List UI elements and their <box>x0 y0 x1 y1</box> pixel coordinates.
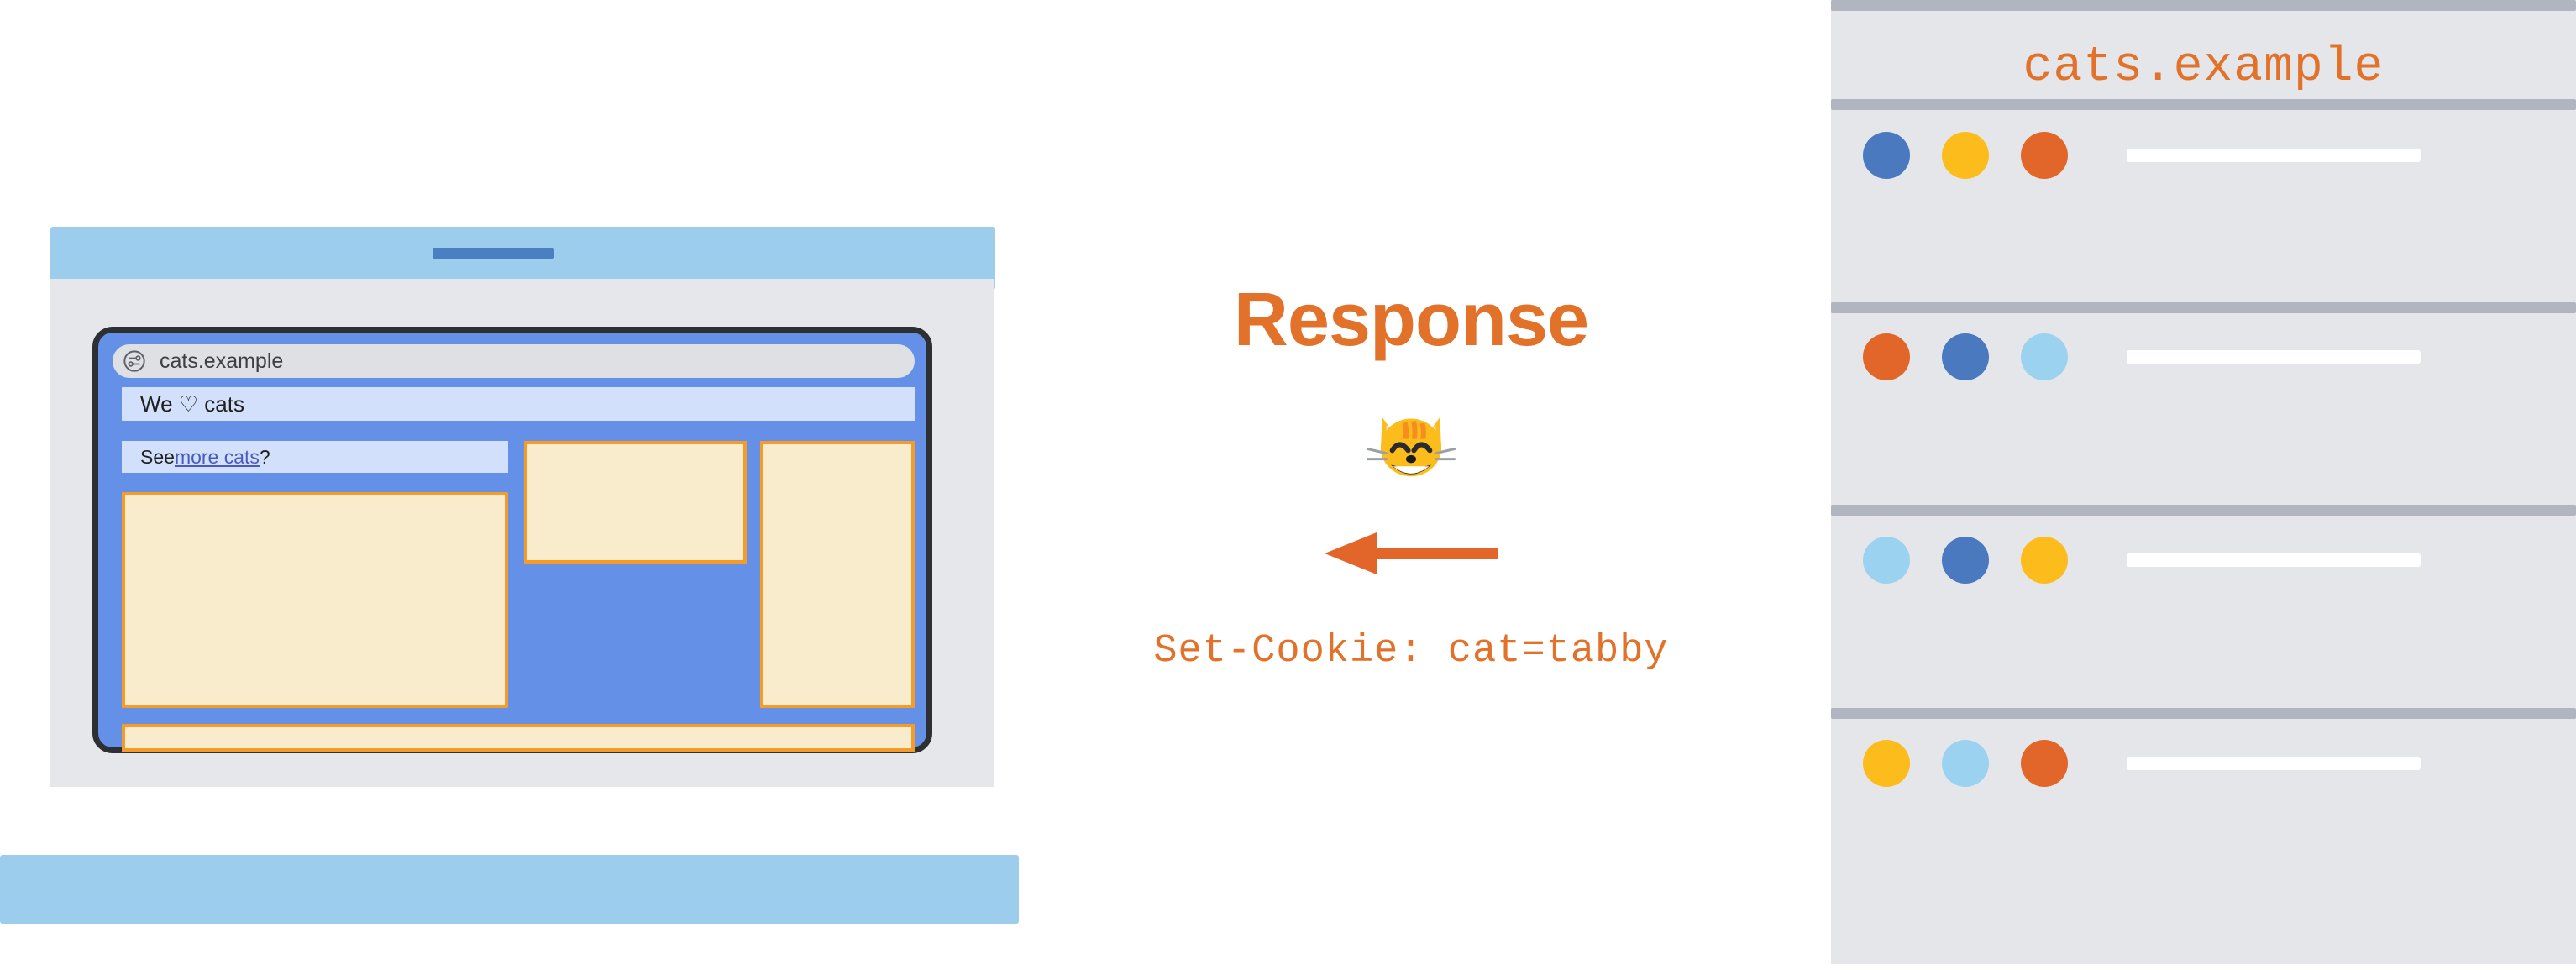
server-dot <box>1863 740 1910 787</box>
server-record-bar <box>2127 149 2421 162</box>
response-section: Response <box>1092 277 1730 848</box>
server-dot <box>2021 333 2068 380</box>
server-divider <box>1831 302 2576 313</box>
server-dot <box>1942 740 1989 787</box>
server-dot <box>2021 537 2068 584</box>
page-heading: We ♡ cats <box>122 387 915 421</box>
more-cats-link[interactable]: more cats <box>175 446 260 469</box>
server-dot <box>1942 333 1989 380</box>
server-row <box>1831 730 2576 797</box>
content-box-side <box>760 441 915 708</box>
server-divider <box>1831 708 2576 719</box>
server-dot <box>2021 740 2068 787</box>
server-record-bar <box>2127 350 2421 364</box>
browser-window: cats.example We ♡ cats See more cats? <box>92 327 932 753</box>
laptop-camera-notch <box>433 248 554 259</box>
server-dot <box>1863 537 1910 584</box>
server-row <box>1831 122 2576 189</box>
laptop-base <box>0 855 1019 924</box>
server-record-bar <box>2127 553 2421 567</box>
server-row <box>1831 323 2576 391</box>
content-box-footer <box>122 724 915 752</box>
server-dot <box>1942 537 1989 584</box>
server-panel: cats.example <box>1831 0 2576 964</box>
page-link-line: See more cats? <box>122 441 508 473</box>
server-divider <box>1831 505 2576 516</box>
server-row <box>1831 527 2576 594</box>
browser-url-text: cats.example <box>160 349 283 374</box>
server-dot <box>1942 132 1989 179</box>
server-title: cats.example <box>1831 40 2576 95</box>
content-box-top-right <box>524 441 747 564</box>
server-dot <box>1863 132 1910 179</box>
server-divider <box>1831 0 2576 11</box>
site-settings-tune-icon[interactable] <box>123 349 146 373</box>
laptop-illustration: cats.example We ♡ cats See more cats? <box>0 210 1058 907</box>
set-cookie-header-text: Set-Cookie: cat=tabby <box>1092 629 1730 674</box>
content-box-main <box>122 492 508 708</box>
response-arrow-left-icon <box>1092 528 1730 579</box>
server-dot <box>2021 132 2068 179</box>
server-record-bar <box>2127 757 2421 770</box>
link-line-suffix: ? <box>260 446 270 469</box>
grinning-cat-emoji <box>1092 396 1730 488</box>
server-divider <box>1831 99 2576 110</box>
link-line-prefix: See <box>140 446 175 469</box>
browser-url-bar[interactable]: cats.example <box>113 344 915 378</box>
response-title: Response <box>1092 277 1730 364</box>
server-dot <box>1863 333 1910 380</box>
